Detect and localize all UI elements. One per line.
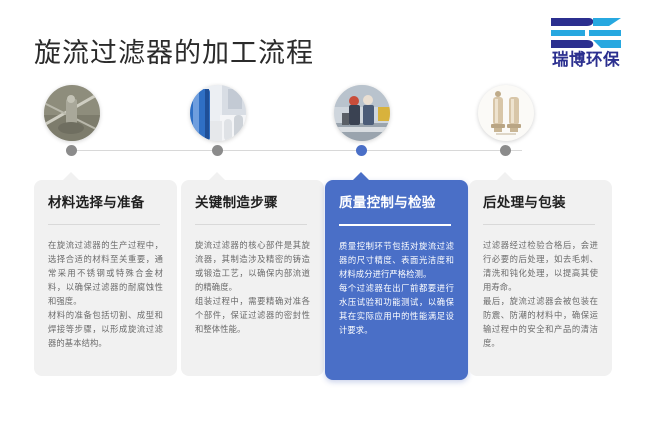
timeline-thumb-3[interactable]: [334, 85, 390, 141]
process-timeline: [0, 80, 660, 180]
brand-logo: 瑞博环保: [530, 16, 642, 76]
card-body: 旋流过滤器的核心部件是其旋流器，其制造涉及精密的铸造或锻造工艺，以确保内部流道的…: [195, 238, 310, 336]
card-paragraph: 每个过滤器在出厂前都要进行水压试验和功能测试，以确保其在实际应用中的性能满足设计…: [339, 281, 454, 337]
process-card-1[interactable]: 材料选择与准备 在旋流过滤器的生产过程中，选择合适的材料至关重要，通常采用不锈钢…: [34, 180, 177, 376]
card-paragraph: 过滤器经过检验合格后，会进行必要的后处理，如去毛刺、清洗和钝化处理，以提高其使用…: [483, 238, 598, 294]
process-card-4[interactable]: 后处理与包装 过滤器经过检验合格后，会进行必要的后处理，如去毛刺、清洗和钝化处理…: [469, 180, 612, 376]
card-paragraph: 在旋流过滤器的生产过程中，选择合适的材料至关重要，通常采用不锈钢或特殊合金材料，…: [48, 238, 163, 308]
brand-name: 瑞博环保: [552, 51, 620, 70]
card-body: 在旋流过滤器的生产过程中，选择合适的材料至关重要，通常采用不锈钢或特殊合金材料，…: [48, 238, 163, 350]
timeline-thumb-4[interactable]: [478, 85, 534, 141]
blue-filter-cylinder-photo-icon: [190, 85, 246, 141]
card-paragraph: 材料的准备包括切割、成型和焊接等步骤，以形成旋流过滤器的基本结构。: [48, 308, 163, 350]
timeline-dot-2[interactable]: [212, 145, 223, 156]
timeline-dot-1[interactable]: [66, 145, 77, 156]
card-divider: [48, 224, 160, 225]
card-body: 过滤器经过检验合格后，会进行必要的后处理，如去毛刺、清洗和钝化处理，以提高其使用…: [483, 238, 598, 350]
process-cards: 材料选择与准备 在旋流过滤器的生产过程中，选择合适的材料至关重要，通常采用不锈钢…: [0, 180, 660, 382]
page-header: 旋流过滤器的加工流程 瑞博环保: [0, 0, 660, 88]
timeline-dot-3[interactable]: [356, 145, 367, 156]
logo-mark-icon: [549, 16, 623, 50]
metal-valve-photo-icon: [44, 85, 100, 141]
process-card-2[interactable]: 关键制造步骤 旋流过滤器的核心部件是其旋流器，其制造涉及精密的铸造或锻造工艺，以…: [181, 180, 324, 376]
card-paragraph: 质量控制环节包括对旋流过滤器的尺寸精度、表面光洁度和材料成分进行严格检测。: [339, 239, 454, 281]
card-divider: [483, 224, 595, 225]
timeline-axis: [66, 150, 522, 151]
card-paragraph: 组装过程中，需要精确对准各个部件，保证过滤器的密封性和整体性能。: [195, 294, 310, 336]
card-paragraph: 旋流过滤器的核心部件是其旋流器，其制造涉及精密的铸造或锻造工艺，以确保内部流道的…: [195, 238, 310, 294]
factory-workers-photo-icon: [334, 85, 390, 141]
timeline-dot-4[interactable]: [500, 145, 511, 156]
card-divider: [339, 224, 451, 226]
timeline-thumb-2[interactable]: [190, 85, 246, 141]
timeline-thumb-1[interactable]: [44, 85, 100, 141]
card-title: 材料选择与准备: [48, 194, 163, 212]
card-paragraph: 最后，旋流过滤器会被包装在防震、防潮的材料中，确保运输过程中的安全和产品的清洁度…: [483, 294, 598, 350]
process-card-3[interactable]: 质量控制与检验 质量控制环节包括对旋流过滤器的尺寸精度、表面光洁度和材料成分进行…: [325, 180, 468, 380]
card-body: 质量控制环节包括对旋流过滤器的尺寸精度、表面光洁度和材料成分进行严格检测。 每个…: [339, 239, 454, 337]
card-title: 后处理与包装: [483, 194, 598, 212]
filter-vessels-photo-icon: [478, 85, 534, 141]
card-title: 关键制造步骤: [195, 194, 310, 212]
page-title: 旋流过滤器的加工流程: [34, 36, 314, 70]
card-title: 质量控制与检验: [339, 194, 454, 212]
card-divider: [195, 224, 307, 225]
